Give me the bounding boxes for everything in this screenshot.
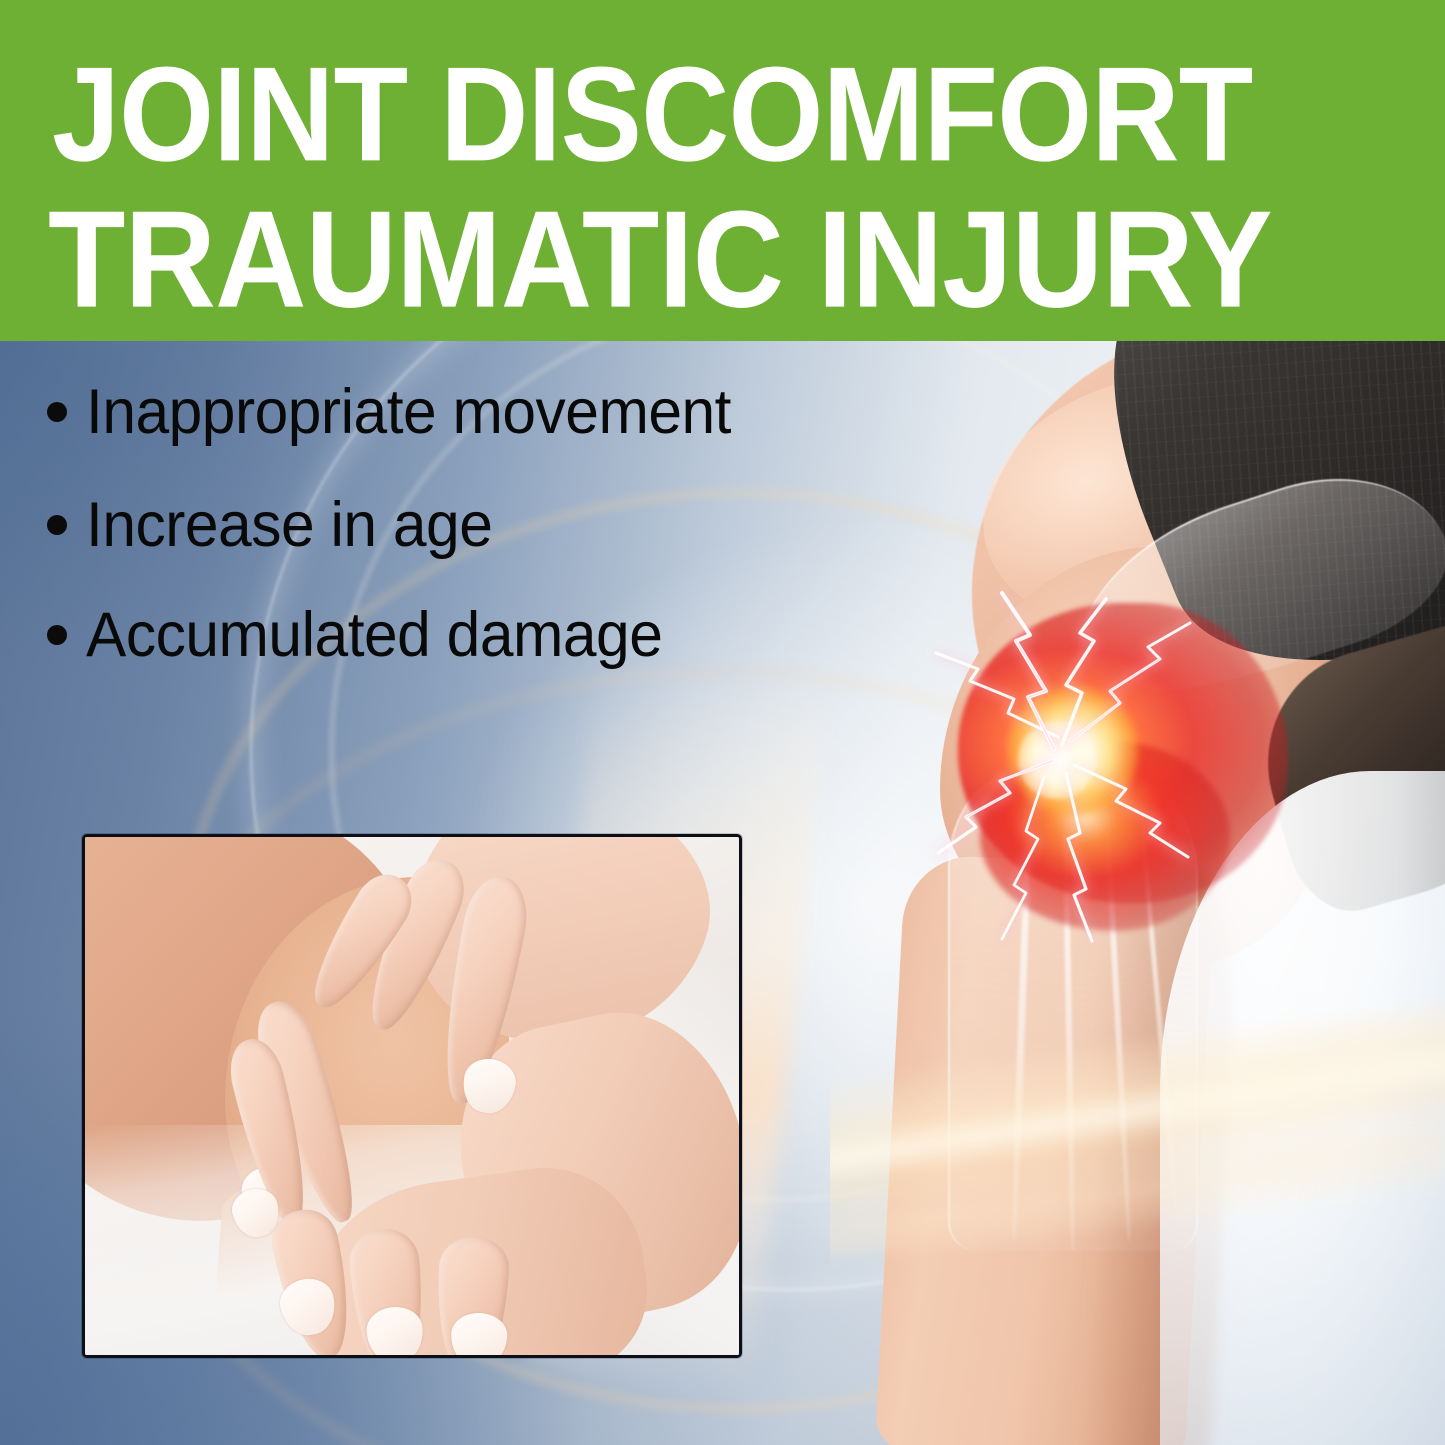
page-title-line-1: JOINT DISCOMFORT <box>52 48 1252 182</box>
lightning-bolt-icon <box>830 341 1445 1445</box>
hands-holding-painful-knee-photo <box>82 834 742 1358</box>
bullet-label: Increase in age <box>86 493 492 557</box>
bullet-dot-icon <box>47 402 67 422</box>
bent-leg-with-glowing-knee-joint-photo <box>830 341 1445 1445</box>
header-banner: JOINT DISCOMFORT TRAUMATIC INJURY <box>0 0 1445 341</box>
list-item: Accumulated damage <box>0 603 686 667</box>
poster-root: JOINT DISCOMFORT TRAUMATIC INJURY <box>0 0 1445 1445</box>
list-item: Increase in age <box>0 493 509 557</box>
bullet-label: Accumulated damage <box>86 603 662 667</box>
bullet-dot-icon <box>47 625 67 645</box>
bullet-label: Inappropriate movement <box>86 380 731 444</box>
list-item: Inappropriate movement <box>0 380 758 444</box>
page-title-line-2: TRAUMATIC INJURY <box>48 190 1272 328</box>
bullet-dot-icon <box>47 515 67 535</box>
